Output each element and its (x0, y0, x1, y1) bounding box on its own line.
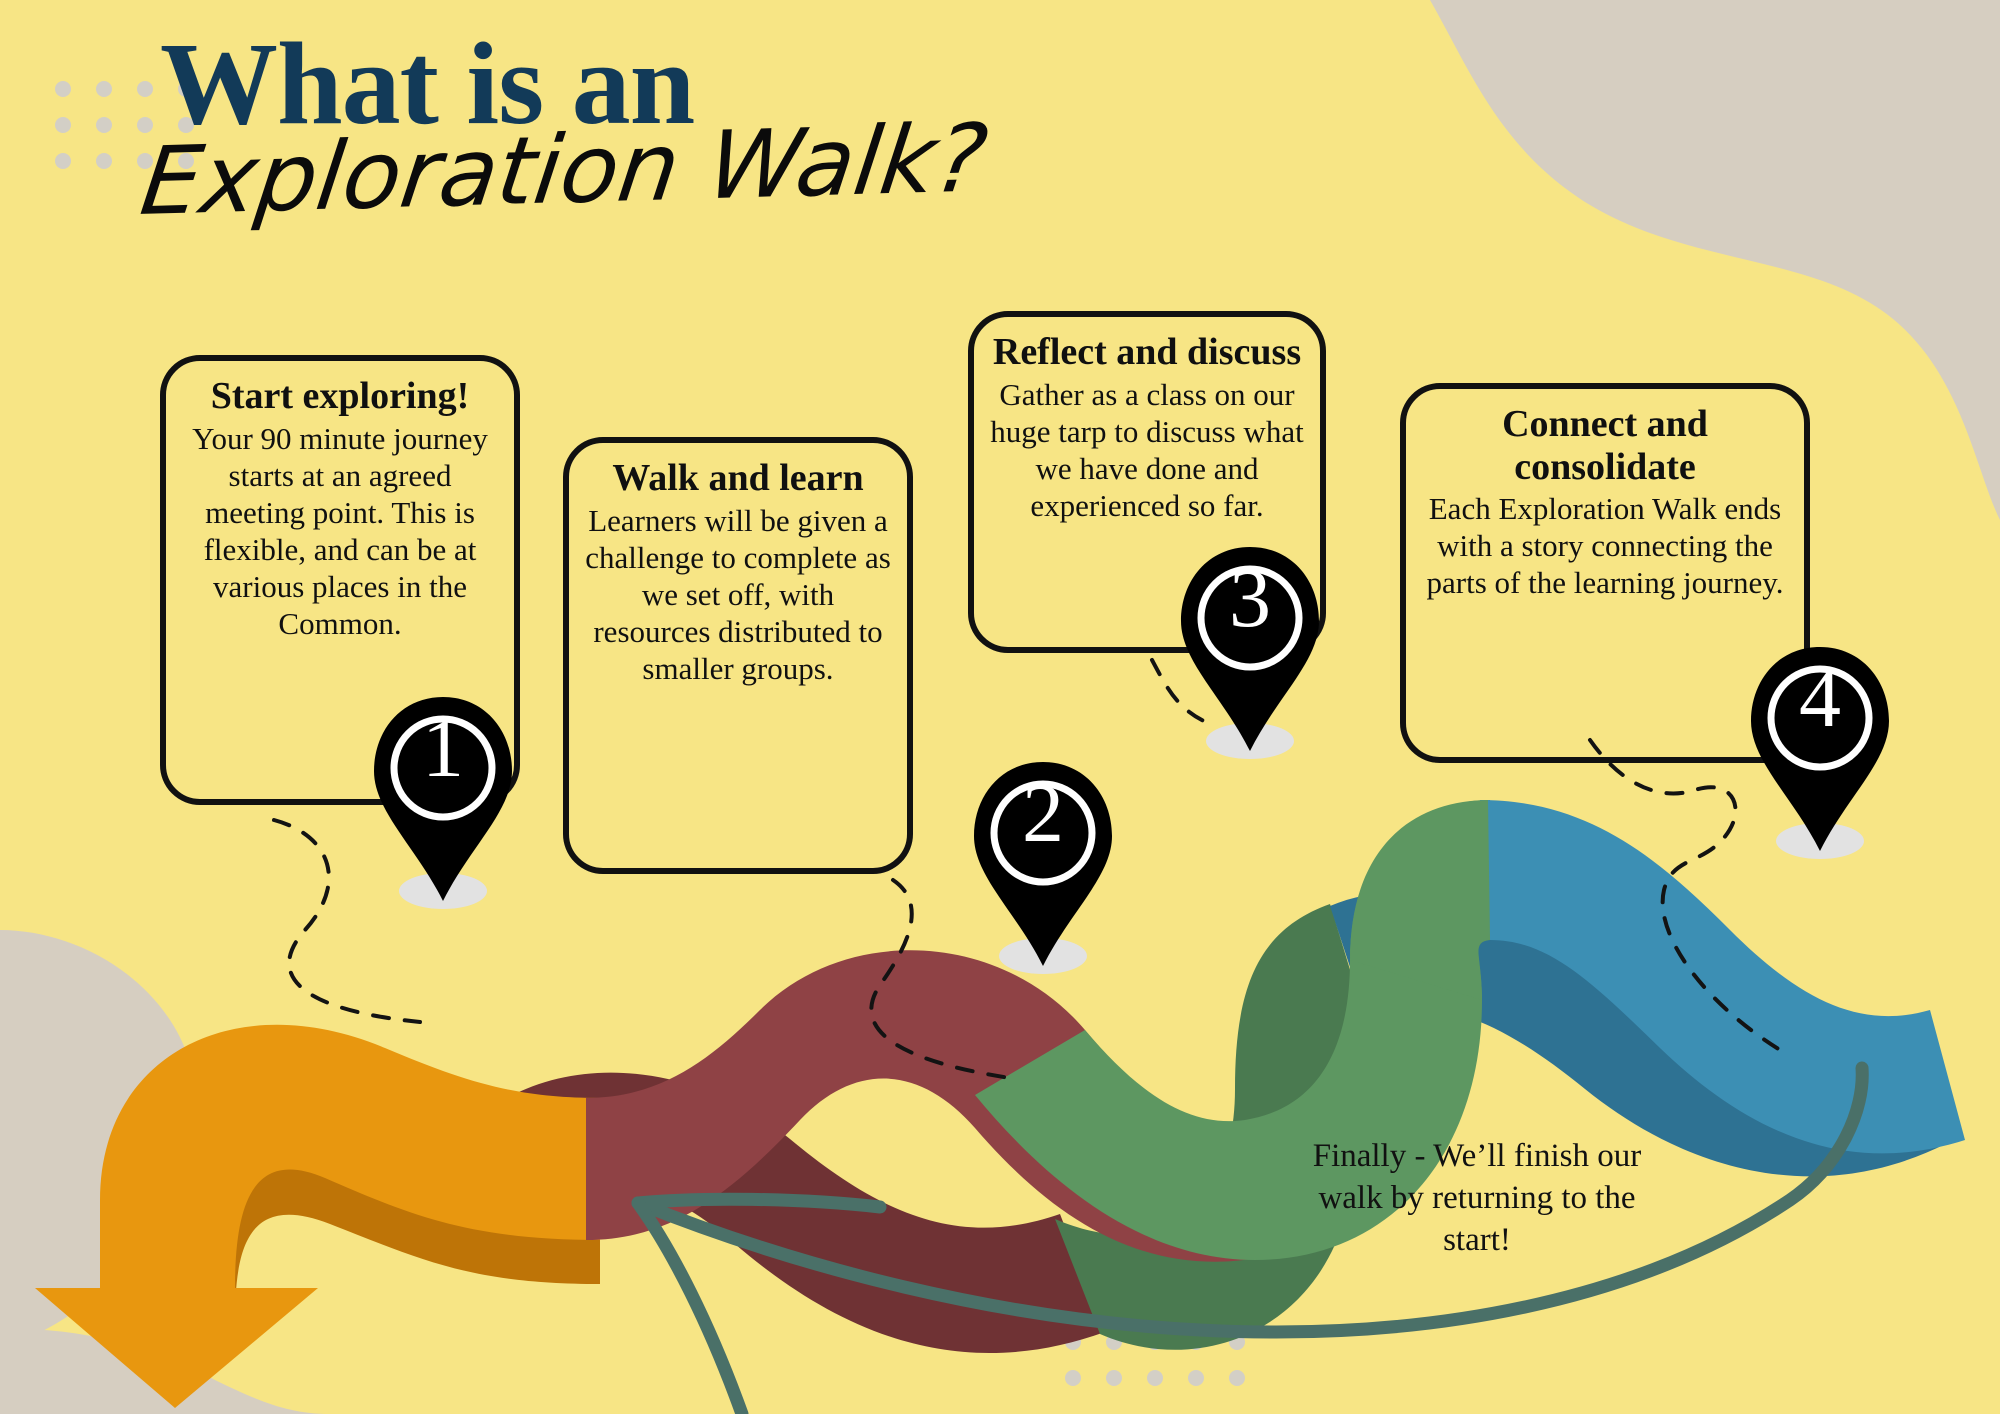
map-pin-1[interactable]: 1 (368, 695, 518, 910)
callout-step-1-body: Your 90 minute journey starts at an agre… (182, 420, 498, 643)
callout-step-4-body: Each Exploration Walk ends with a story … (1422, 490, 1788, 602)
infographic-canvas: What is an Exploration Walk? Start explo… (0, 0, 2000, 1414)
map-pin-2[interactable]: 2 (968, 760, 1118, 975)
callout-step-3-title: Reflect and discuss (990, 331, 1304, 374)
map-pin-4[interactable]: 4 (1745, 645, 1895, 860)
pin-2-body (974, 762, 1112, 966)
pin-1-body (374, 697, 512, 901)
page-title: What is an Exploration Walk? (160, 28, 1360, 230)
pin-4-body (1751, 647, 1889, 851)
callout-step-2-title: Walk and learn (585, 457, 891, 500)
callout-step-1-title: Start exploring! (182, 375, 498, 418)
closing-note: Finally - We’ll finish our walk by retur… (1292, 1135, 1662, 1262)
map-pin-3[interactable]: 3 (1175, 545, 1325, 760)
callout-step-2-body: Learners will be given a challenge to co… (585, 502, 891, 688)
callout-step-4-title: Connect and consolidate (1422, 403, 1788, 488)
pin-3-body (1181, 547, 1319, 751)
callout-step-2[interactable]: Walk and learn Learners will be given a … (563, 437, 913, 874)
callout-step-3-body: Gather as a class on our huge tarp to di… (990, 376, 1304, 525)
